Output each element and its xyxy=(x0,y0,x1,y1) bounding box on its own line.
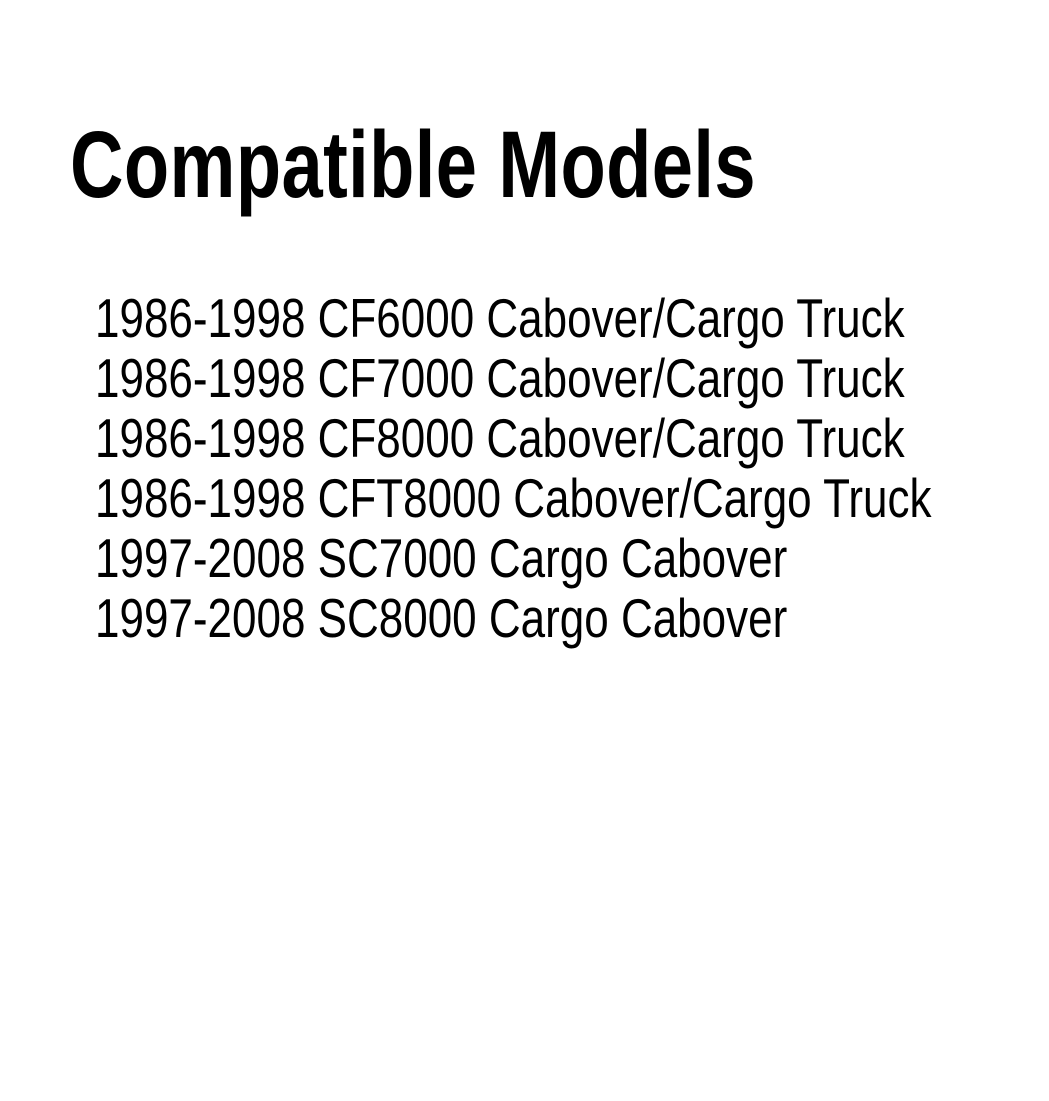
list-item: 1986-1998 CF8000 Cabover/Cargo Truck xyxy=(95,408,1015,468)
list-item: 1997-2008 SC7000 Cargo Cabover xyxy=(95,528,1015,588)
model-line-5: 1997-2008 SC7000 Cargo Cabover xyxy=(95,528,787,588)
model-line-4: 1986-1998 CFT8000 Cabover/Cargo Truck xyxy=(95,468,931,528)
compatible-models-list: 1986-1998 CF6000 Cabover/Cargo Truck 198… xyxy=(95,288,1015,648)
list-item: 1986-1998 CF6000 Cabover/Cargo Truck xyxy=(95,288,1015,348)
model-line-6: 1997-2008 SC8000 Cargo Cabover xyxy=(95,588,787,648)
page-title: Compatible Models xyxy=(70,117,756,213)
model-line-2: 1986-1998 CF7000 Cabover/Cargo Truck xyxy=(95,348,905,408)
list-item: 1986-1998 CF7000 Cabover/Cargo Truck xyxy=(95,348,1015,408)
model-line-3: 1986-1998 CF8000 Cabover/Cargo Truck xyxy=(95,408,905,468)
model-line-1: 1986-1998 CF6000 Cabover/Cargo Truck xyxy=(95,288,905,348)
compatible-models-page: Compatible Models 1986-1998 CF6000 Cabov… xyxy=(0,0,1049,1101)
page-title-container: Compatible Models xyxy=(70,117,1030,213)
list-item: 1986-1998 CFT8000 Cabover/Cargo Truck xyxy=(95,468,1015,528)
list-item: 1997-2008 SC8000 Cargo Cabover xyxy=(95,588,1015,648)
